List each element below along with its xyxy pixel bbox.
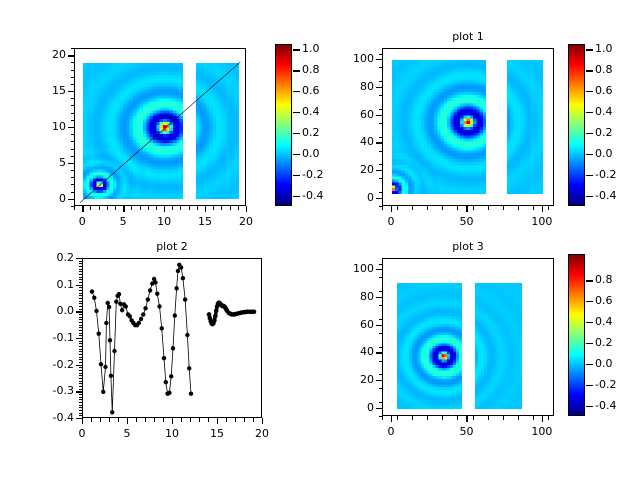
panel-bottom-right-ytick-label: 20 — [330, 373, 374, 386]
panel-bottom-right-colorbar-tick — [586, 280, 593, 281]
panel-bottom-right-colorbar — [568, 254, 585, 416]
panel-bottom-right-y-minor-tick — [379, 291, 383, 292]
panel-bottom-right-xtick-label: 0 — [367, 425, 415, 438]
panel-bottom-right-colorbar-tick-label: -0.2 — [595, 378, 637, 391]
panel-bottom-right-y-minor-tick — [379, 319, 383, 320]
figure-canvas: 05101520051015201.00.80.60.40.20.0-0.2-0… — [0, 0, 640, 480]
panel-bottom-right-y-minor-tick — [379, 374, 383, 375]
panel-bottom-right-colorbar-tick — [586, 364, 593, 365]
panel-bottom-right-y-minor-tick — [379, 264, 383, 265]
panel-bottom-right-x-major-tick — [466, 416, 467, 422]
panel-bottom-right-x-minor-tick — [427, 416, 428, 420]
panel-bottom-right-xtick-label: 50 — [442, 425, 490, 438]
panel-bottom-right-x-minor-tick — [488, 416, 489, 420]
panel-bottom-right-colorbar-tick — [586, 406, 593, 407]
panel-bottom-right-colorbar-tick — [586, 385, 593, 386]
panel-bottom-right-colorbar-tick-label: -0.4 — [595, 399, 637, 412]
panel-bottom-right-y-minor-tick — [379, 388, 383, 389]
panel-bottom-right-y-major-tick — [376, 380, 382, 381]
panel-bottom-right-axes-frame — [382, 258, 554, 416]
panel-bottom-right-ytick-label: 0 — [330, 401, 374, 414]
panel-bottom-right-x-major-tick — [391, 416, 392, 422]
panel-bottom-right-y-major-tick — [376, 408, 382, 409]
panel-bottom-right-y-major-tick — [376, 297, 382, 298]
panel-bottom-right-x-minor-tick — [503, 416, 504, 420]
panel-bottom-right-colorbar-tick-label: 0.2 — [595, 336, 637, 349]
panel-bottom-right-colorbar-gradient — [569, 255, 584, 415]
panel-bottom-right-y-minor-tick — [379, 347, 383, 348]
panel-bottom-right-x-minor-tick — [473, 416, 474, 420]
panel-bottom-right-ytick-label: 80 — [330, 290, 374, 303]
panel-bottom-right-ytick-label: 100 — [330, 262, 374, 275]
panel-bottom-right-colorbar-tick-label: 0.4 — [595, 315, 637, 328]
panel-bottom-right-x-minor-tick — [382, 416, 383, 420]
panel-bottom-right-x-minor-tick — [533, 416, 534, 420]
panel-bottom-right-y-minor-tick — [379, 277, 383, 278]
panel-bottom-right-x-minor-tick — [397, 416, 398, 420]
panel-bottom-right-x-minor-tick — [457, 416, 458, 420]
panel-bottom-right-x-minor-tick — [518, 416, 519, 420]
panel-bottom-right-y-major-tick — [376, 269, 382, 270]
panel-bottom-right-xtick-label: 100 — [518, 425, 566, 438]
panel-bottom-right-title: plot 3 — [382, 240, 554, 253]
panel-bottom-right-x-minor-tick — [412, 416, 413, 420]
panel-bottom-right-x-minor-tick — [442, 416, 443, 420]
panel-bottom-right-right-image-patch — [475, 283, 522, 409]
panel-bottom-right-y-minor-tick — [379, 333, 383, 334]
panel-bottom-right-y-minor-tick — [379, 361, 383, 362]
panel-bottom-right-x-minor-tick — [548, 416, 549, 420]
panel-bottom-right-x-major-tick — [542, 416, 543, 422]
panel-bottom-right-colorbar-tick — [586, 343, 593, 344]
panel-bottom-right-y-minor-tick — [379, 416, 383, 417]
panel-bottom-right-y-minor-tick — [379, 402, 383, 403]
panel-bottom-right-y-major-tick — [376, 352, 382, 353]
panel-bottom-right-left-image-patch — [397, 283, 462, 409]
panel-bottom-right: plot 30501000204060801000.80.60.40.20.0-… — [0, 0, 640, 480]
panel-bottom-right-ytick-label: 60 — [330, 318, 374, 331]
panel-bottom-right-colorbar-tick-label: 0.8 — [595, 273, 637, 286]
panel-bottom-right-y-major-tick — [376, 325, 382, 326]
panel-bottom-right-ytick-label: 40 — [330, 345, 374, 358]
panel-bottom-right-y-minor-tick — [379, 305, 383, 306]
panel-bottom-right-colorbar-tick — [586, 301, 593, 302]
panel-bottom-right-colorbar-tick — [586, 322, 593, 323]
panel-bottom-right-colorbar-tick-label: 0.6 — [595, 294, 637, 307]
panel-bottom-right-colorbar-tick-label: 0.0 — [595, 357, 637, 370]
